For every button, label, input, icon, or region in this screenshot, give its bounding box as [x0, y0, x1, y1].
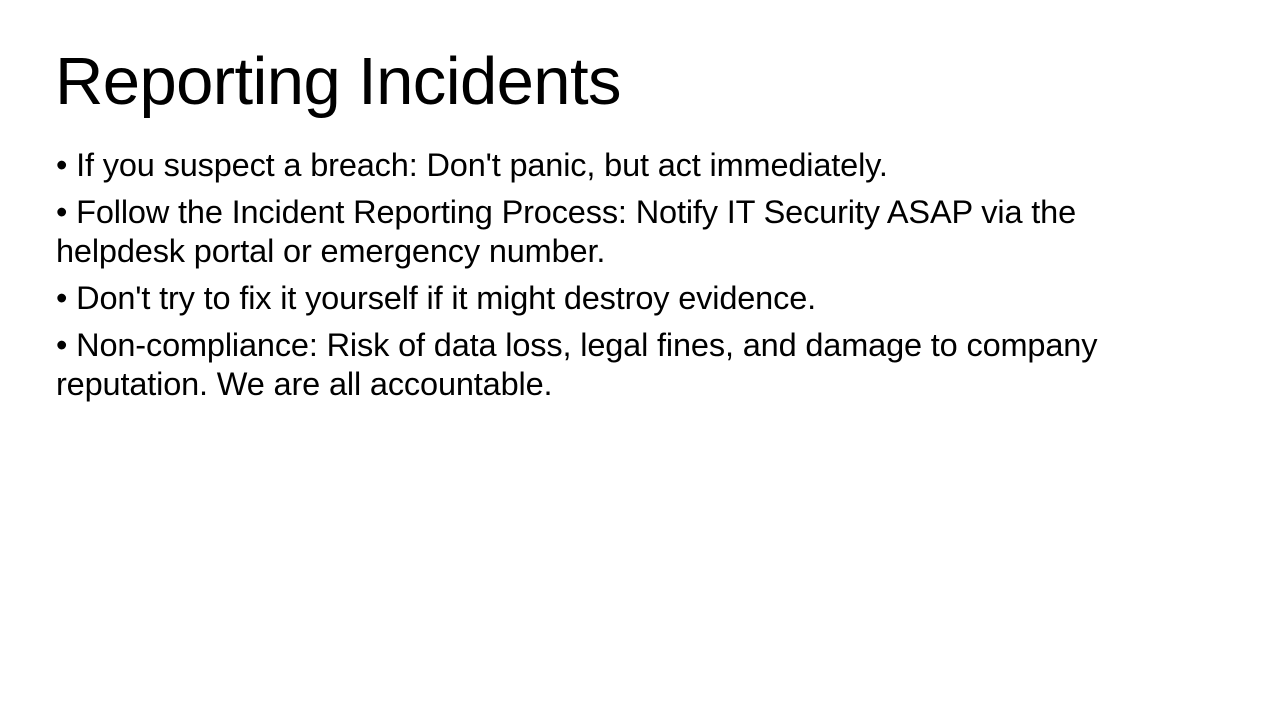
bullet-marker-icon: • [56, 327, 67, 363]
bullet-marker-icon: • [56, 280, 67, 316]
bullet-item: • If you suspect a breach: Don't panic, … [56, 146, 1174, 185]
bullet-item: • Non-compliance: Risk of data loss, leg… [56, 326, 1174, 404]
bullet-text: If you suspect a breach: Don't panic, bu… [76, 147, 888, 183]
bullet-marker-icon: • [56, 194, 67, 230]
bullet-item: • Don't try to fix it yourself if it mig… [56, 279, 1174, 318]
bullet-marker-icon: • [56, 147, 67, 183]
bullet-text: Non-compliance: Risk of data loss, legal… [56, 327, 1097, 402]
bullet-item: • Follow the Incident Reporting Process:… [56, 193, 1174, 271]
slide-title: Reporting Incidents [55, 48, 1225, 115]
bullet-text: Follow the Incident Reporting Process: N… [56, 194, 1076, 269]
bullet-text: Don't try to fix it yourself if it might… [76, 280, 816, 316]
slide-canvas: Reporting Incidents • If you suspect a b… [0, 0, 1280, 720]
slide-body-placeholder: • If you suspect a breach: Don't panic, … [56, 146, 1174, 404]
